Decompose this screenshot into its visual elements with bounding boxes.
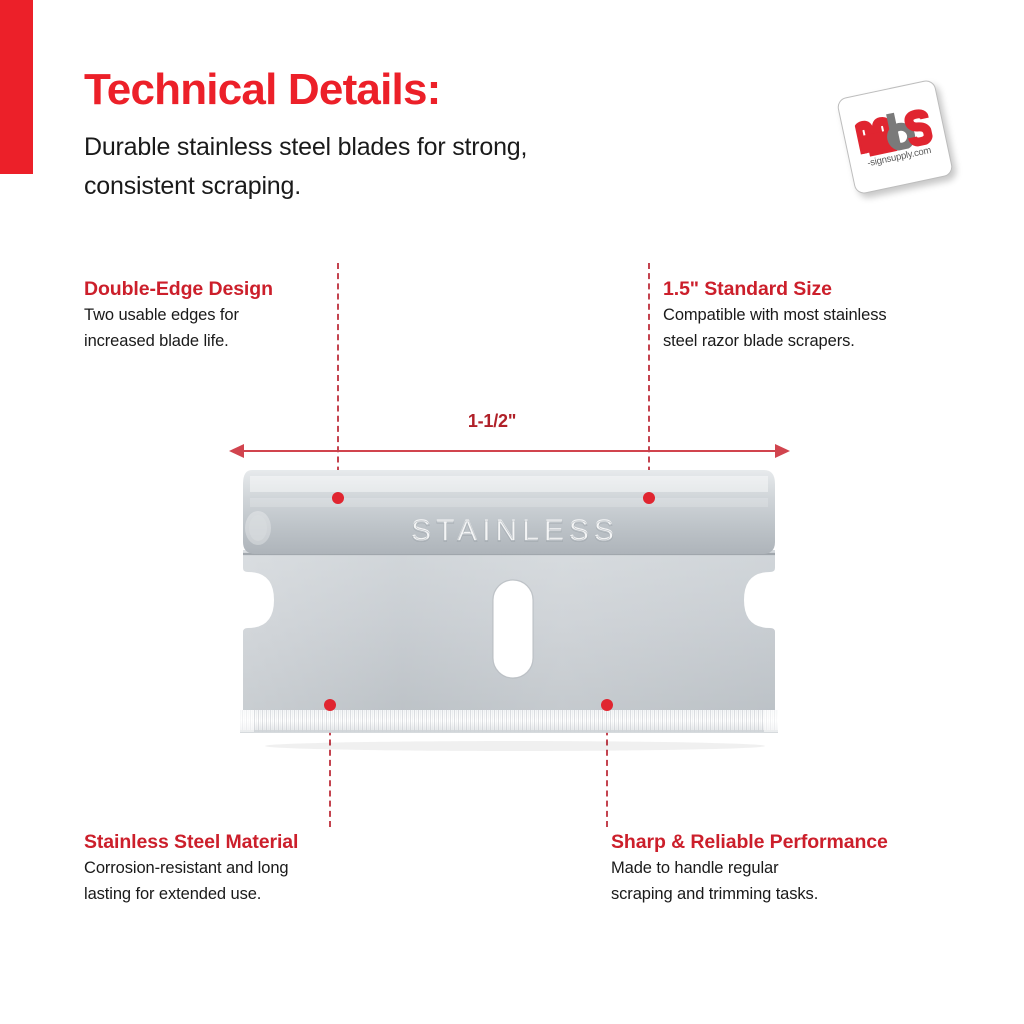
marker-dot-double-edge-design [332,492,344,504]
callout-sharp-reliable-performance: Sharp & Reliable Performance Made to han… [611,831,888,907]
accent-bar [0,0,33,174]
callout-body-line1: Compatible with most stainless [663,303,887,328]
page-title: Technical Details: [84,68,704,112]
callout-body: Two usable edges for increased blade lif… [84,303,273,353]
blade-center-slot [493,580,533,678]
callout-body-line2: increased blade life. [84,329,273,354]
callout-title: 1.5" Standard Size [663,278,887,300]
razor-blade-illustration: STAINLESS STAINLESS [230,458,790,758]
page-subtitle-line2: consistent scraping. [84,167,704,206]
dimension-label: 1-1/2" [437,411,547,432]
callout-body-line1: Made to handle regular [611,856,888,881]
brand-logo: -signsupply.com [836,79,954,196]
callout-body-line2: scraping and trimming tasks. [611,882,888,907]
callout-body: Compatible with most stainless steel raz… [663,303,887,353]
marker-dot-sharp-reliable-performance [601,699,613,711]
page-subtitle-line1: Durable stainless steel blades for stron… [84,128,704,167]
callout-double-edge-design: Double-Edge Design Two usable edges for … [84,278,273,354]
header: Technical Details: Durable stainless ste… [84,68,704,206]
page-subtitle: Durable stainless steel blades for stron… [84,128,704,206]
dimension-line [243,450,776,452]
callout-body-line1: Corrosion-resistant and long [84,856,298,881]
callout-body-line2: steel razor blade scrapers. [663,329,887,354]
callout-title: Double-Edge Design [84,278,273,300]
marker-dot-standard-size [643,492,655,504]
callout-title: Stainless Steel Material [84,831,298,853]
marker-dot-stainless-steel-material [324,699,336,711]
dimension-arrow-right-icon [775,444,790,458]
dimension-arrow-left-icon [229,444,244,458]
callout-body: Corrosion-resistant and long lasting for… [84,856,298,906]
callout-standard-size: 1.5" Standard Size Compatible with most … [663,278,887,354]
svg-text:STAINLESS: STAINLESS [411,516,619,549]
infographic-page: Technical Details: Durable stainless ste… [0,0,1024,1024]
callout-stainless-steel-material: Stainless Steel Material Corrosion-resis… [84,831,298,907]
callout-title: Sharp & Reliable Performance [611,831,888,853]
callout-body-line1: Two usable edges for [84,303,273,328]
callout-body-line2: lasting for extended use. [84,882,298,907]
callout-body: Made to handle regular scraping and trim… [611,856,888,906]
